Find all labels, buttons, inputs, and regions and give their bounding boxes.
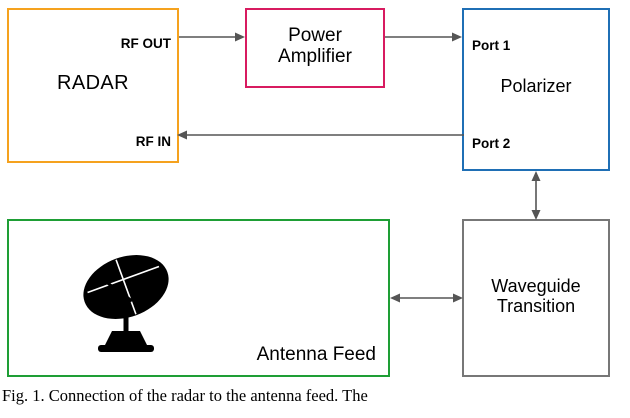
polarizer-port1-label: Port 1 xyxy=(472,38,510,53)
satellite-dish-icon xyxy=(64,239,194,359)
connector-polarizer-to-radar xyxy=(177,129,464,141)
antenna-feed-block-label: Antenna Feed xyxy=(257,344,376,365)
polarizer-block: Polarizer Port 1 Port 2 xyxy=(462,8,610,171)
radar-port-rf-in-label: RF IN xyxy=(136,134,171,149)
radar-port-rf-out-label: RF OUT xyxy=(121,36,171,51)
waveguide-transition-block: Waveguide Transition xyxy=(462,219,610,377)
polarizer-block-label: Polarizer xyxy=(464,76,608,96)
power-amplifier-block: Power Amplifier xyxy=(245,8,385,88)
radar-block: RADAR RF OUT RF IN xyxy=(7,8,179,163)
antenna-feed-block: Antenna Feed xyxy=(7,219,390,377)
figure-caption: Fig. 1. Connection of the radar to the a… xyxy=(2,386,628,406)
connector-power-amplifier-to-polarizer xyxy=(385,31,464,43)
connector-waveguide-to-antenna-feed xyxy=(390,292,463,304)
radar-block-label: RADAR xyxy=(9,72,177,94)
connector-radar-to-power-amplifier xyxy=(179,31,247,43)
figure-canvas: RADAR RF OUT RF IN Power Amplifier Polar… xyxy=(0,0,630,418)
connector-polarizer-to-waveguide xyxy=(530,171,542,220)
waveguide-transition-block-label: Waveguide Transition xyxy=(464,276,608,316)
power-amplifier-block-label: Power Amplifier xyxy=(247,25,383,68)
polarizer-port2-label: Port 2 xyxy=(472,136,510,151)
